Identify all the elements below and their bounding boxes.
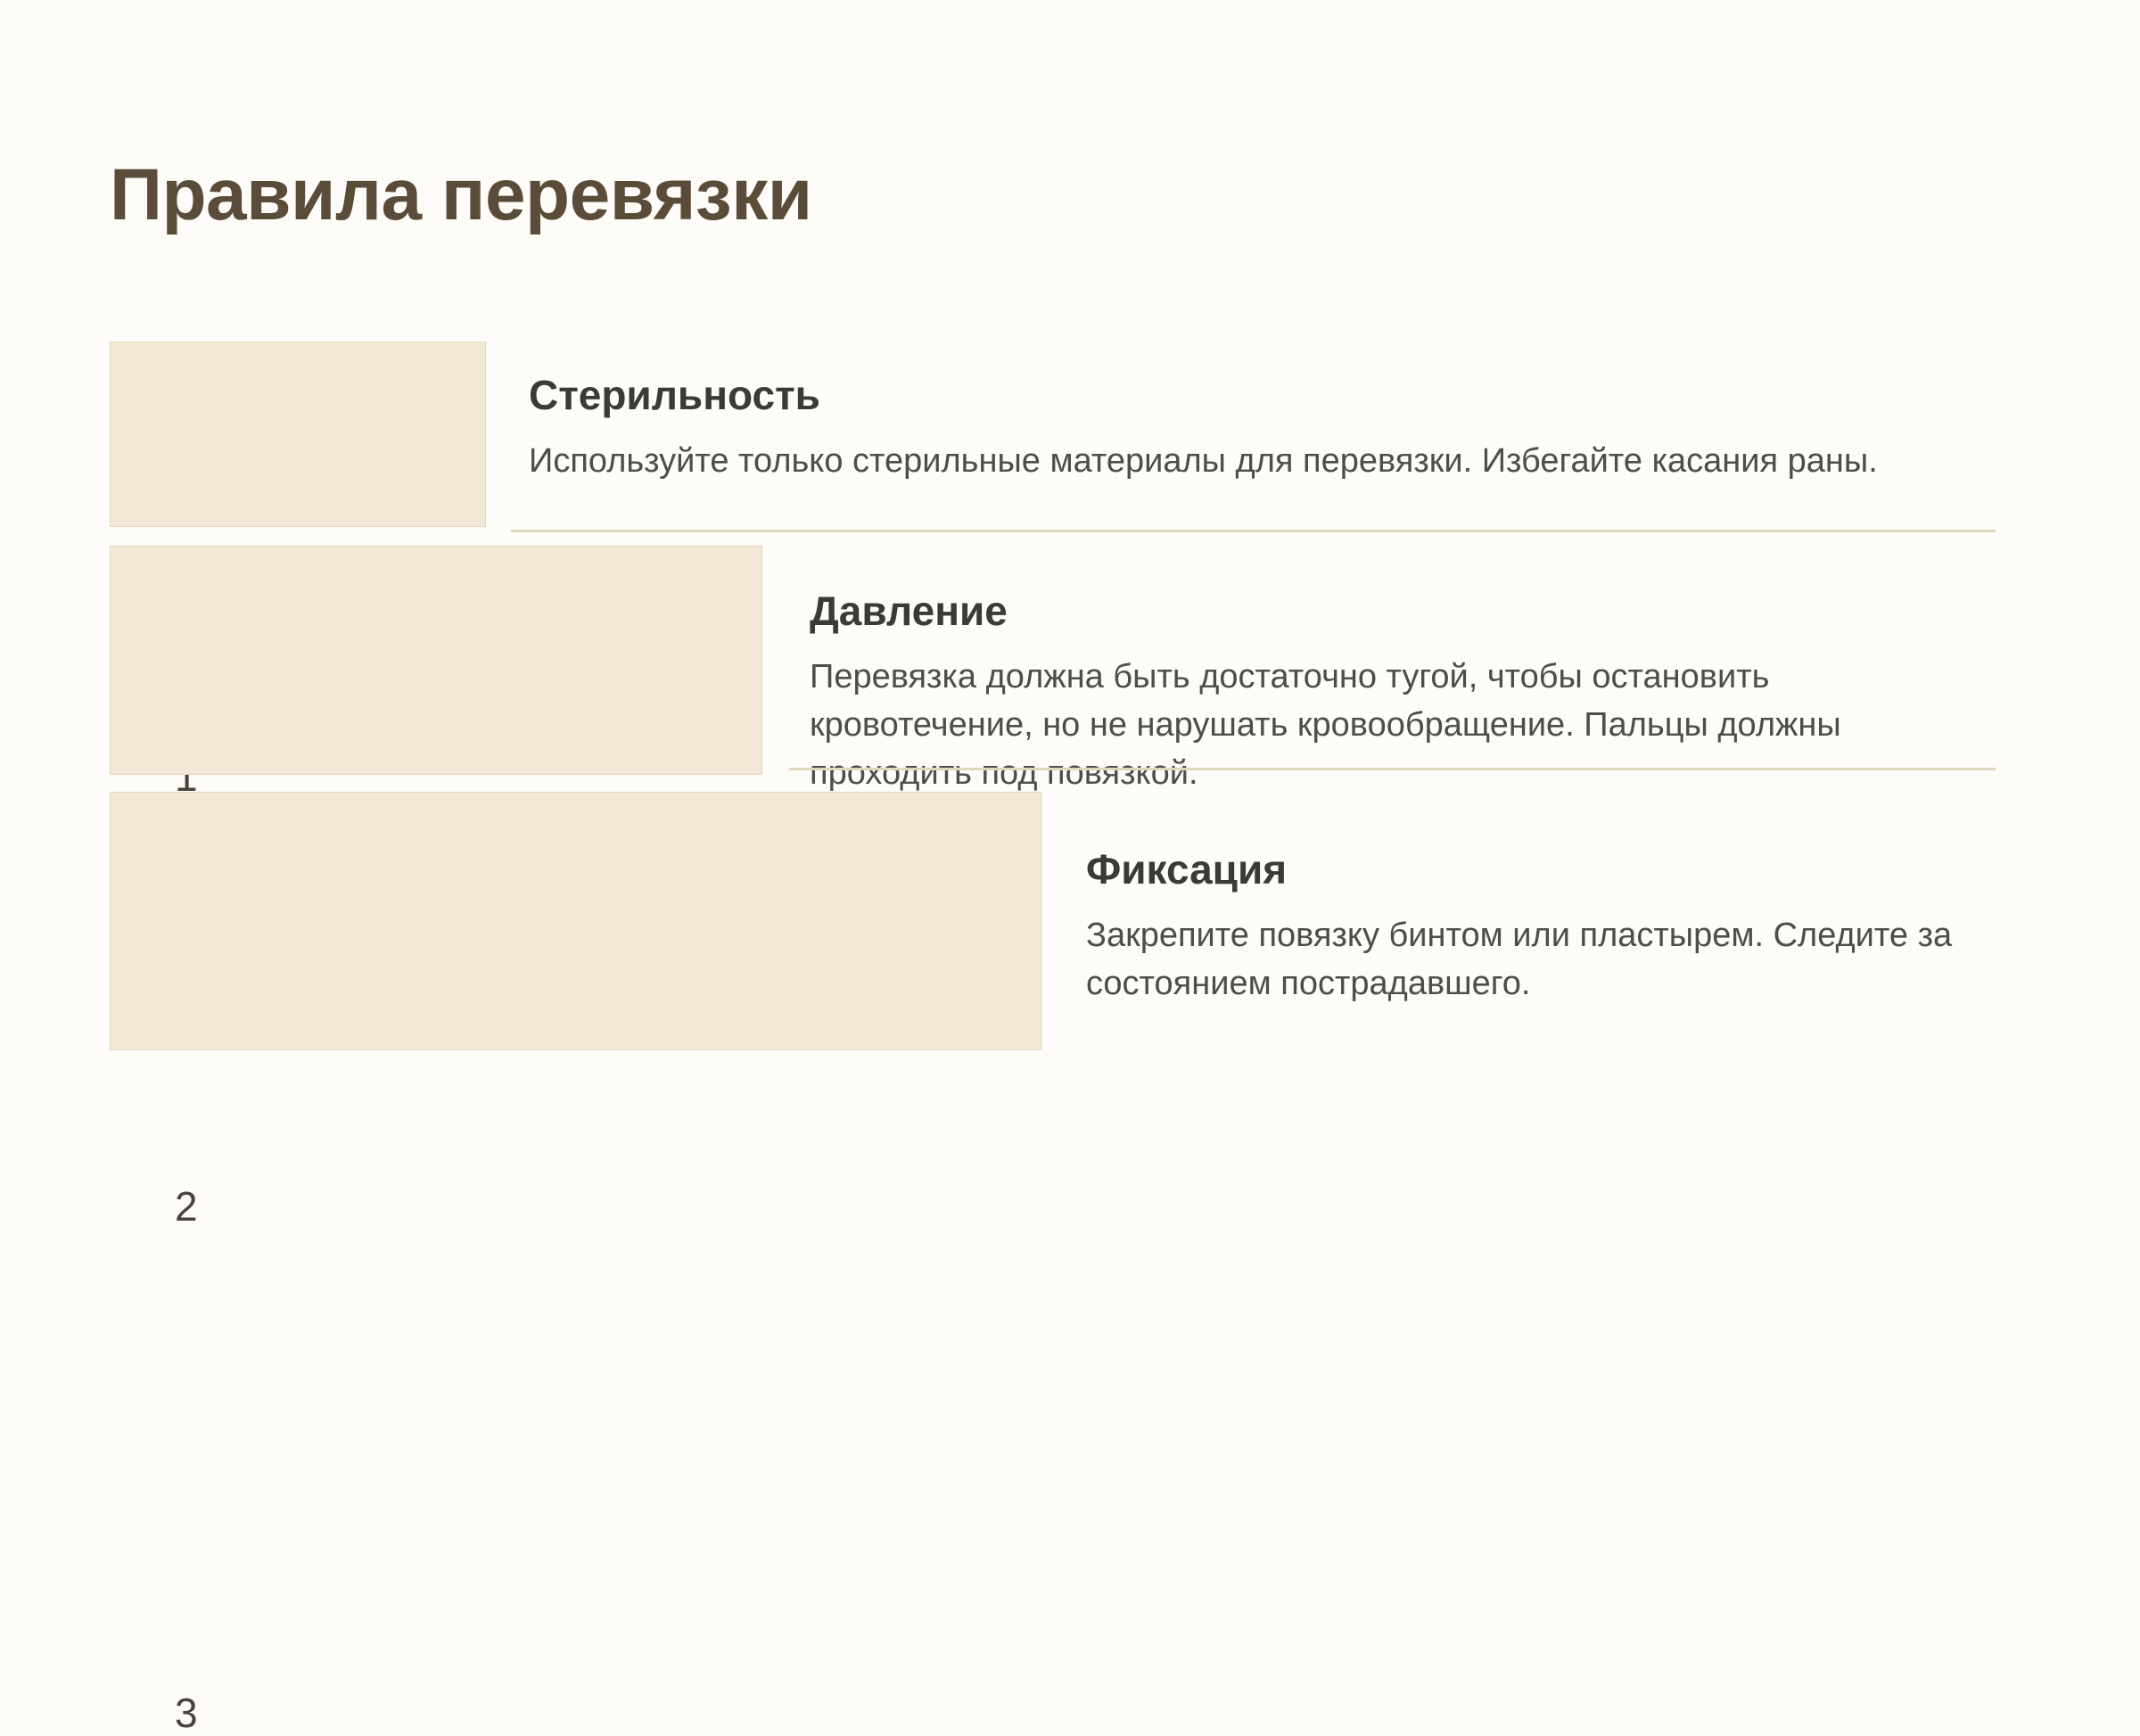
step-separator (789, 768, 1996, 770)
step-description: Используйте только стерильные материалы … (529, 438, 2009, 486)
step-separator (511, 530, 1996, 532)
step-heading: Давление (810, 588, 1996, 634)
step-number-box: 3 (110, 792, 1041, 1050)
step-number-label: 3 (175, 1692, 198, 1733)
step-number-box: 2 (110, 546, 762, 775)
page-title: Правила перевязки (110, 159, 812, 232)
step-text-block: Фиксация Закрепите повязку бинтом или пл… (1086, 847, 1996, 1008)
step-number-label: 2 (175, 1186, 198, 1227)
step-heading: Фиксация (1086, 847, 1996, 893)
step-heading: Стерильность (529, 373, 2009, 418)
step-text-block: Стерильность Используйте только стерильн… (529, 373, 2009, 486)
step-number-box: 1 (110, 341, 486, 527)
step-text-block: Давление Перевязка должна быть достаточн… (810, 588, 1996, 797)
step-description: Закрепите повязку бинтом или пластырем. … (1086, 912, 1996, 1008)
slide-canvas: Правила перевязки 1 Стерильность Использ… (0, 0, 2140, 1204)
step-description: Перевязка должна быть достаточно тугой, … (810, 654, 1996, 798)
